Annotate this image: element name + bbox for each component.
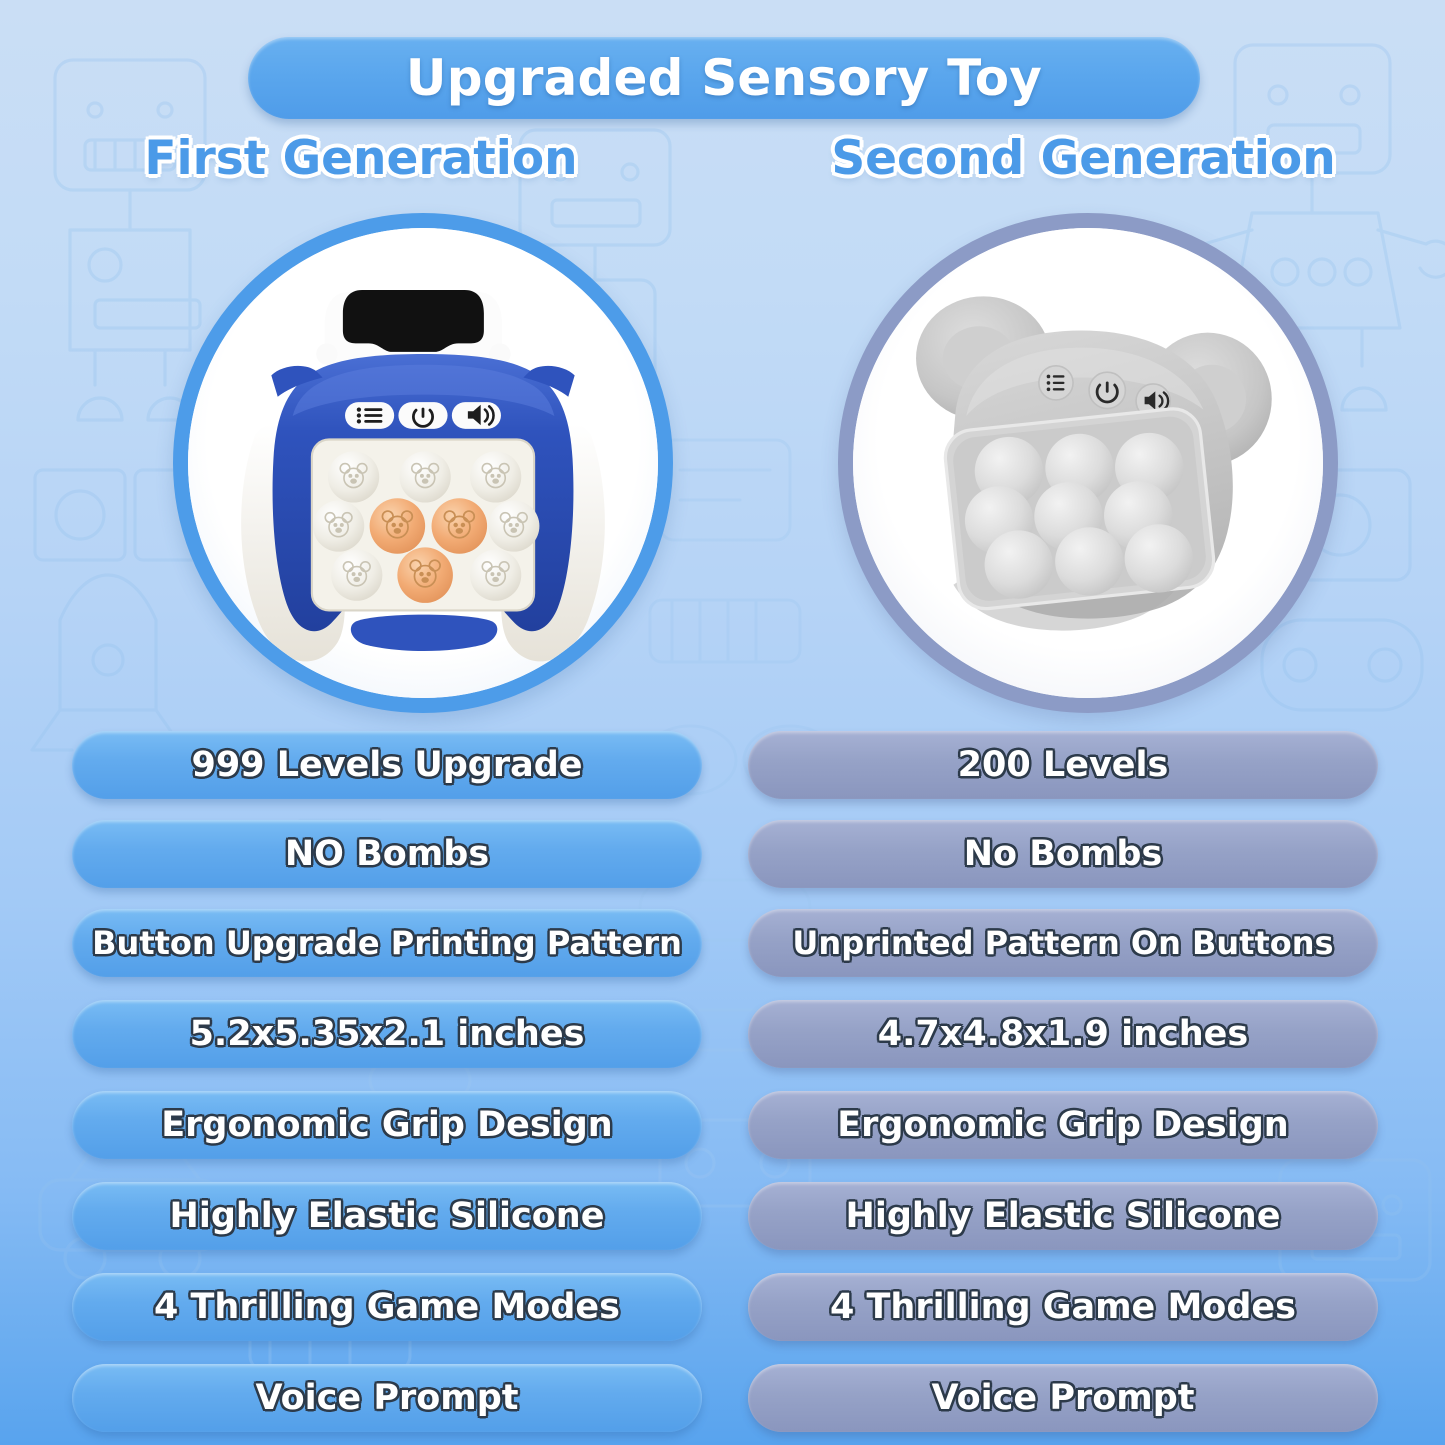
- feature-label: Unprinted Pattern On Buttons: [792, 924, 1333, 962]
- feature-pill-left-0: 999 Levels Upgrade: [72, 731, 702, 799]
- column-heading-second-generation: Second Generation: [722, 131, 1445, 186]
- feature-pill-right-3: 4.7x4.8x1.9 inches: [748, 1000, 1378, 1068]
- feature-label: Highly Elastic Silicone: [170, 1196, 605, 1236]
- feature-pill-left-3: 5.2x5.35x2.1 inches: [72, 1000, 702, 1068]
- infographic-page: Upgraded Sensory Toy First Generation Se…: [0, 0, 1445, 1445]
- feature-label: Highly Elastic Silicone: [846, 1196, 1281, 1236]
- feature-pill-right-5: Highly Elastic Silicone: [748, 1182, 1378, 1250]
- product-image-first-generation: [173, 213, 673, 713]
- feature-label: Ergonomic Grip Design: [161, 1105, 612, 1145]
- feature-label: Voice Prompt: [255, 1378, 518, 1418]
- feature-pill-right-0: 200 Levels: [748, 731, 1378, 799]
- feature-pill-left-1: NO Bombs: [72, 820, 702, 888]
- feature-pill-left-5: Highly Elastic Silicone: [72, 1182, 702, 1250]
- feature-pill-left-6: 4 Thrilling Game Modes: [72, 1273, 702, 1341]
- title-banner: Upgraded Sensory Toy: [248, 37, 1200, 119]
- feature-label: No Bombs: [964, 834, 1163, 874]
- feature-pill-left-4: Ergonomic Grip Design: [72, 1091, 702, 1159]
- feature-label: Button Upgrade Printing Pattern: [92, 924, 682, 962]
- feature-pill-left-7: Voice Prompt: [72, 1364, 702, 1432]
- feature-label: 999 Levels Upgrade: [191, 745, 582, 785]
- feature-pill-right-4: Ergonomic Grip Design: [748, 1091, 1378, 1159]
- feature-pill-right-1: No Bombs: [748, 820, 1378, 888]
- feature-pill-left-2: Button Upgrade Printing Pattern: [72, 909, 702, 977]
- console-control-buttons: [345, 402, 501, 429]
- feature-label: NO Bombs: [285, 834, 489, 874]
- feature-label: Ergonomic Grip Design: [837, 1105, 1288, 1145]
- feature-pill-right-7: Voice Prompt: [748, 1364, 1378, 1432]
- product-image-second-generation: [838, 213, 1338, 713]
- page-title: Upgraded Sensory Toy: [406, 49, 1042, 107]
- feature-label: 4.7x4.8x1.9 inches: [878, 1014, 1249, 1054]
- feature-label: 200 Levels: [958, 745, 1169, 785]
- feature-pill-right-2: Unprinted Pattern On Buttons: [748, 909, 1378, 977]
- feature-label: Voice Prompt: [931, 1378, 1194, 1418]
- feature-label: 4 Thrilling Game Modes: [154, 1287, 620, 1327]
- feature-label: 5.2x5.35x2.1 inches: [190, 1014, 585, 1054]
- feature-label: 4 Thrilling Game Modes: [830, 1287, 1296, 1327]
- feature-pill-right-6: 4 Thrilling Game Modes: [748, 1273, 1378, 1341]
- pop-bubble-grid: [943, 406, 1217, 613]
- column-heading-first-generation: First Generation: [0, 131, 722, 186]
